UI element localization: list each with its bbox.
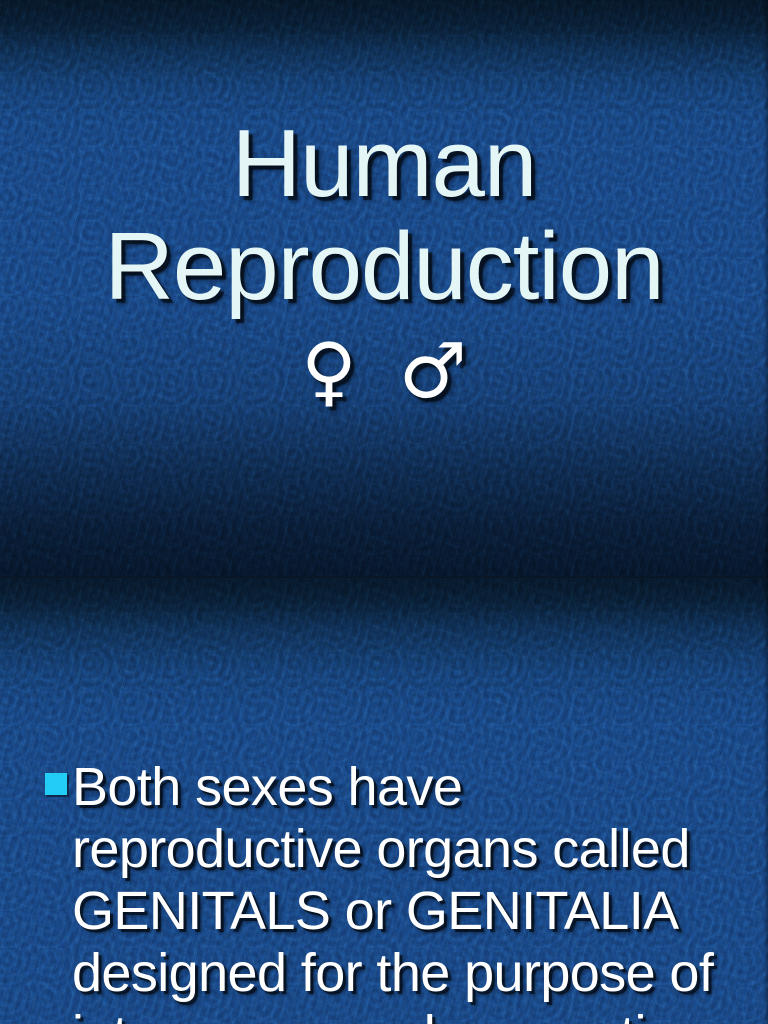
gender-symbol-row: ♀♂ bbox=[0, 328, 768, 414]
list-item-text: Both sexes have reproductive organs call… bbox=[72, 757, 713, 1024]
content-slide: Both sexes have reproductive organs call… bbox=[0, 578, 768, 1024]
slide-title-line-2: Reproduction bbox=[0, 215, 768, 318]
slide-deck: Human Reproduction ♀♂ Both sexes have re… bbox=[0, 0, 768, 1024]
slide-title-line-1: Human bbox=[0, 112, 768, 215]
slide-separator bbox=[0, 576, 768, 579]
square-bullet-icon bbox=[45, 773, 67, 795]
venus-female-symbol-icon: ♀ bbox=[301, 326, 399, 415]
title-slide: Human Reproduction ♀♂ bbox=[0, 0, 768, 578]
title-block: Human Reproduction ♀♂ bbox=[0, 0, 768, 414]
mars-male-symbol-icon: ♂ bbox=[399, 326, 509, 415]
list-item: Both sexes have reproductive organs call… bbox=[0, 756, 768, 1024]
bullet-list: Both sexes have reproductive organs call… bbox=[0, 578, 768, 1024]
